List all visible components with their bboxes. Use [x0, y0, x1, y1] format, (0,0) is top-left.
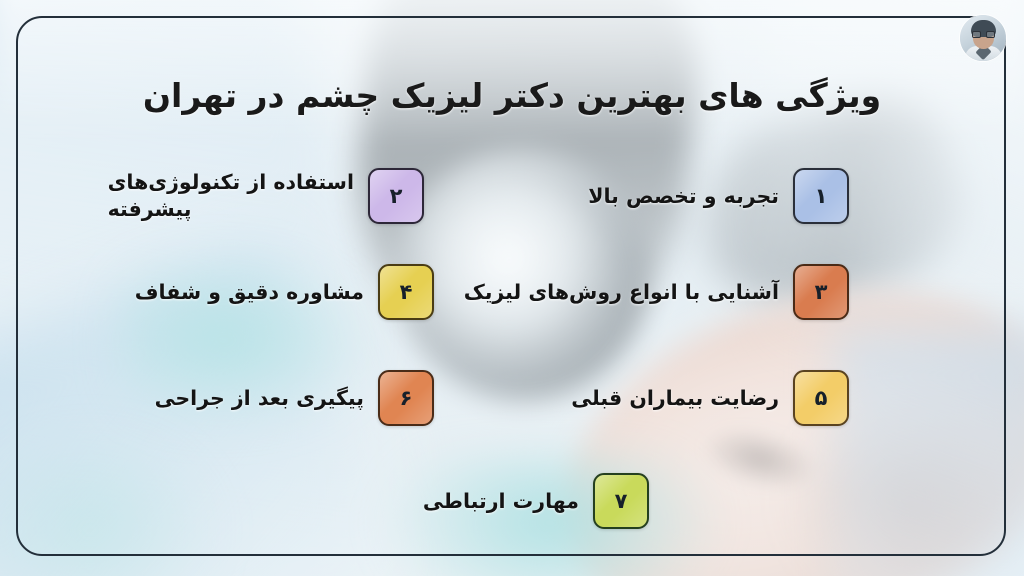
feature-item-2: ۲ استفاده از تکنولوژی‌های پیشرفته — [108, 168, 424, 224]
feature-item-7: ۷ مهارت ارتباطی — [423, 473, 649, 529]
page-title: ویژگی های بهترین دکتر لیزیک چشم در تهران — [0, 74, 1024, 119]
feature-number-3: ۳ — [815, 280, 828, 304]
feature-item-6: ۶ پیگیری بعد از جراحی — [155, 370, 434, 426]
feature-label-3: آشنایی با انواع روش‌های لیزیک — [464, 279, 779, 306]
feature-label-6: پیگیری بعد از جراحی — [155, 385, 364, 412]
feature-number-1: ۱ — [815, 184, 828, 208]
feature-number-5: ۵ — [815, 386, 828, 410]
feature-number-2: ۲ — [390, 184, 403, 208]
feature-badge-1: ۱ — [793, 168, 849, 224]
feature-item-3: ۳ آشنایی با انواع روش‌های لیزیک — [464, 264, 849, 320]
feature-number-6: ۶ — [400, 386, 413, 410]
feature-label-2: استفاده از تکنولوژی‌های پیشرفته — [108, 169, 354, 222]
feature-number-4: ۴ — [400, 280, 413, 304]
feature-badge-3: ۳ — [793, 264, 849, 320]
feature-label-7: مهارت ارتباطی — [423, 488, 579, 515]
feature-number-7: ۷ — [615, 489, 628, 513]
infographic-slide: ویژگی های بهترین دکتر لیزیک چشم در تهران… — [0, 0, 1024, 576]
feature-label-5: رضایت بیماران قبلی — [571, 385, 779, 412]
feature-badge-7: ۷ — [593, 473, 649, 529]
feature-label-1: تجربه و تخصص بالا — [588, 183, 779, 210]
glasses-icon — [972, 31, 995, 38]
feature-item-5: ۵ رضایت بیماران قبلی — [571, 370, 849, 426]
feature-badge-5: ۵ — [793, 370, 849, 426]
feature-badge-6: ۶ — [378, 370, 434, 426]
feature-badge-4: ۴ — [378, 264, 434, 320]
avatar — [960, 15, 1006, 61]
feature-label-4: مشاوره دقیق و شفاف — [135, 279, 364, 306]
feature-item-4: ۴ مشاوره دقیق و شفاف — [135, 264, 434, 320]
feature-badge-2: ۲ — [368, 168, 424, 224]
feature-item-1: ۱ تجربه و تخصص بالا — [588, 168, 849, 224]
